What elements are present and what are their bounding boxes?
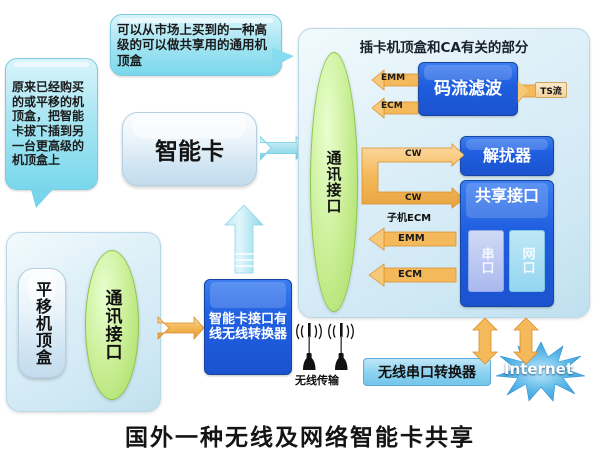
ecm-top-label: ECM xyxy=(381,101,403,111)
legacy-to-converter-arrow xyxy=(158,312,204,344)
stream-filter-label: 码流滤波 xyxy=(434,79,502,99)
smart-card-box: 智能卡 xyxy=(122,112,257,186)
ecm-bottom-label: ECM xyxy=(398,269,422,280)
converter-label: 智能卡接口有线无线转换器 xyxy=(205,312,291,343)
ts-stream-label: TS流 xyxy=(540,84,562,97)
cw-upper-label: CW xyxy=(405,149,422,159)
stream-filter-box: 码流滤波 xyxy=(418,62,518,116)
smart-card-label: 智能卡 xyxy=(155,132,224,166)
legacy-comm-interface-label: 通讯接口 xyxy=(100,289,125,361)
antenna-icon-right xyxy=(326,320,356,372)
callout-left-tail xyxy=(30,186,56,208)
diagram-title: 国外一种无线及网络智能卡共享 xyxy=(0,418,600,452)
callout-left-text: 原来已经购买的或平移的机顶盒，把智能卡拔下插到另一台更高级的机顶盒上 xyxy=(6,76,97,172)
callout-left-stb: 原来已经购买的或平移的机顶盒，把智能卡拔下插到另一台更高级的机顶盒上 xyxy=(5,58,98,190)
wireless-transmission-label: 无线传输 xyxy=(295,372,339,388)
descrambler-label: 解扰器 xyxy=(483,147,531,166)
internet-label: Internet xyxy=(504,360,573,378)
ca-panel-title: 插卡机顶盒和CA有关的部分 xyxy=(298,36,590,56)
serial-port-link-arrow xyxy=(472,318,498,364)
legacy-stb-label: 平移机顶盒 xyxy=(30,281,54,366)
wireless-serial-converter-label: 无线串口转换器 xyxy=(378,362,476,382)
cw-lower-label: CW xyxy=(405,193,422,203)
legacy-stb-box: 平移机顶盒 xyxy=(18,268,66,378)
serial-port-label: 串口 xyxy=(477,247,496,275)
net-port-box: 网口 xyxy=(509,230,545,292)
callout-top-tail xyxy=(272,48,294,68)
callout-top-stb: 可以从市场上买到的一种高级的可以做共享用的通用机顶盒 xyxy=(110,14,282,76)
net-port-label: 网口 xyxy=(518,247,537,275)
emm-top-label: EMM xyxy=(381,73,405,83)
antenna-icon-left xyxy=(294,320,324,372)
sub-ecm-label: 子机ECM xyxy=(387,209,431,224)
shared-interface-label: 共享接口 xyxy=(475,187,539,206)
diagram-canvas: 可以从市场上买到的一种高级的可以做共享用的通用机顶盒 原来已经购买的或平移的机顶… xyxy=(0,0,600,453)
ts-stream-badge: TS流 xyxy=(535,82,567,98)
callout-top-text: 可以从市场上买到的一种高级的可以做共享用的通用机顶盒 xyxy=(111,18,281,72)
legacy-stb-comm-interface: 通讯接口 xyxy=(85,250,139,400)
converter-up-arrow xyxy=(224,205,264,275)
ca-comm-interface-label: 通讯接口 xyxy=(324,150,345,214)
descrambler-box: 解扰器 xyxy=(460,136,554,176)
serial-port-box: 串口 xyxy=(468,230,504,292)
ca-comm-interface-oval: 通讯接口 xyxy=(310,52,358,312)
emm-bottom-label: EMM xyxy=(398,233,425,244)
net-port-link-arrow xyxy=(513,318,539,364)
smartcard-interface-converter-box: 智能卡接口有线无线转换器 xyxy=(204,279,292,375)
